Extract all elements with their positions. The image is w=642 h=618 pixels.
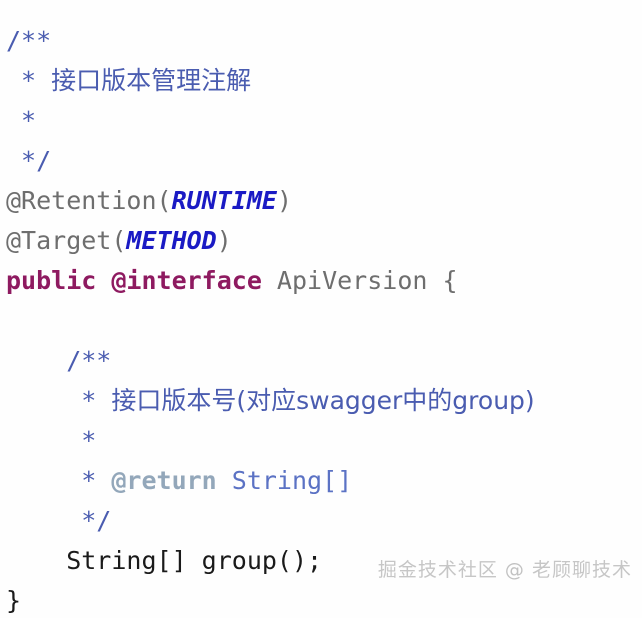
code-token-javadoc-tag: @return (111, 466, 216, 495)
code-token-annotation: @Target (6, 226, 111, 255)
code-block: /** * 接口版本管理注解 * */@Retention(RUNTIME)@T… (0, 21, 642, 618)
code-line: * (0, 101, 642, 141)
watermark: 掘金技术社区 @ 老顾聊技术 (350, 533, 632, 604)
code-token-javadoc-type: String[] (217, 466, 352, 495)
code-token-punct: ) (217, 226, 232, 255)
code-token-comment: /** (6, 346, 111, 375)
watermark-author: 老顾聊技术 (532, 559, 632, 581)
code-token-plain: } (6, 586, 21, 615)
code-token-comment: * (6, 426, 96, 455)
code-token-comment-cn: 接口版本管理注解 (51, 66, 251, 95)
watermark-prefix: 掘金技术社区 (378, 559, 498, 581)
code-token-punct: ( (157, 186, 172, 215)
code-line: @Retention(RUNTIME) (0, 181, 642, 221)
code-token-const: RUNTIME (172, 186, 277, 215)
code-line: * @return String[] (0, 461, 642, 501)
code-token-comment: * (6, 66, 51, 95)
code-token-plain: String[] group(); (6, 546, 322, 575)
code-line: /** (0, 21, 642, 61)
code-line: * 接口版本管理注解 (0, 61, 642, 101)
code-token-comment: * (6, 106, 36, 135)
code-token-comment: /** (6, 26, 51, 55)
watermark-at: @ (498, 559, 532, 581)
code-token-punct: ) (277, 186, 292, 215)
code-token-const: METHOD (126, 226, 216, 255)
code-token-type: ApiVersion { (262, 266, 458, 295)
code-line: */ (0, 141, 642, 181)
code-line (0, 301, 642, 341)
code-line: @Target(METHOD) (0, 221, 642, 261)
code-line: /** (0, 341, 642, 381)
code-token-comment: * (6, 386, 111, 415)
code-screenshot: /** * 接口版本管理注解 * */@Retention(RUNTIME)@T… (0, 0, 642, 618)
code-token-keyword: public @interface (6, 266, 262, 295)
code-line: * (0, 421, 642, 461)
code-token-comment: * (6, 466, 111, 495)
code-token-comment: */ (6, 146, 51, 175)
code-token-comment: */ (6, 506, 111, 535)
code-line: * 接口版本号(对应swagger中的group) (0, 381, 642, 421)
code-token-annotation: @Retention (6, 186, 157, 215)
code-token-punct: ( (111, 226, 126, 255)
code-token-comment-cn: 接口版本号(对应swagger中的group) (111, 386, 534, 415)
code-line: public @interface ApiVersion { (0, 261, 642, 301)
